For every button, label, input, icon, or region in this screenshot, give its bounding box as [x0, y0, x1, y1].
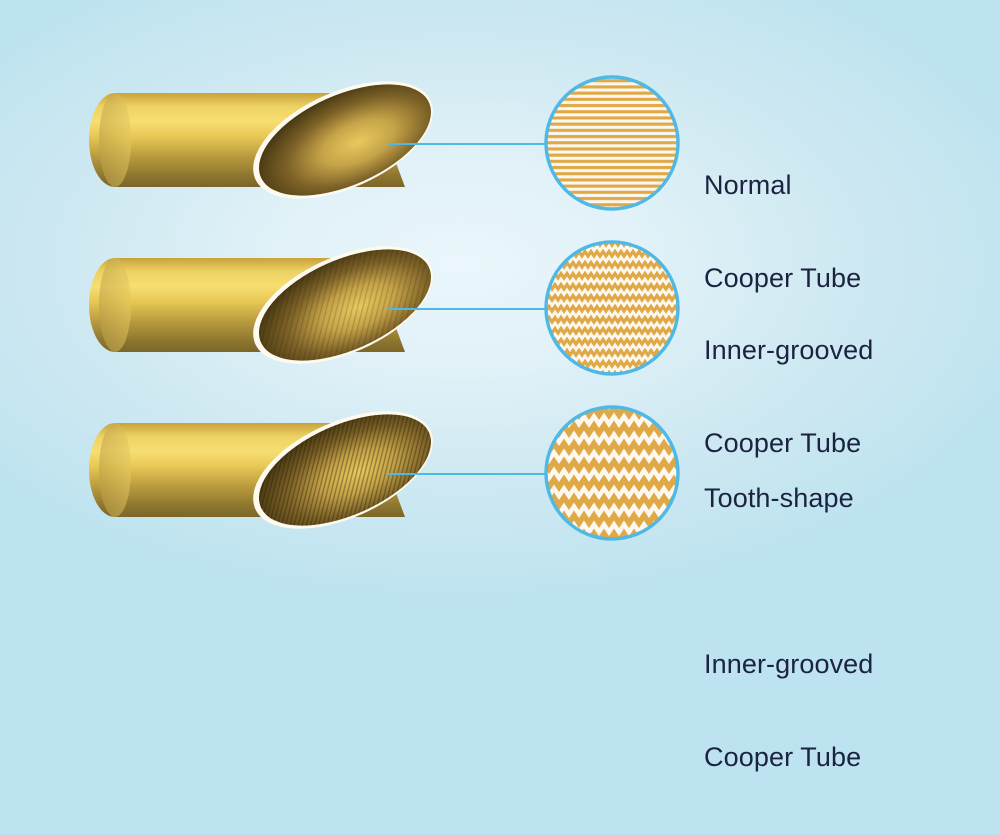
- diagram-row-tooth-shape: Tooth-shape Inner-grooved Cooper Tube: [0, 390, 1000, 570]
- cross-section-inner-grooved: [541, 237, 683, 379]
- diagram-canvas: Normal Cooper Tube: [0, 0, 1000, 600]
- leader-line-inner-grooved: [388, 308, 548, 310]
- copper-tube-normal: [75, 75, 475, 215]
- tube-left-cap: [99, 93, 131, 187]
- label-line: Cooper Tube: [704, 742, 873, 773]
- leader-line-tooth-shape: [388, 473, 548, 475]
- diagram-row-inner-grooved: Inner-grooved Cooper Tube: [0, 225, 1000, 405]
- label-spacer: [704, 576, 873, 587]
- tube-left-cap: [99, 423, 131, 517]
- label-line: Tooth-shape: [704, 483, 873, 514]
- tube-left-cap: [99, 258, 131, 352]
- label-tooth-shape: Tooth-shape Inner-grooved Cooper Tube: [704, 421, 873, 835]
- diagram-row-normal: Normal Cooper Tube: [0, 60, 1000, 240]
- label-line: Normal: [704, 170, 861, 201]
- label-line: Inner-grooved: [704, 335, 873, 366]
- copper-tube-inner-grooved: [75, 240, 475, 380]
- cross-section-normal: [541, 72, 683, 214]
- copper-tube-tooth-shape: [75, 405, 475, 545]
- label-line: Inner-grooved: [704, 649, 873, 680]
- cross-section-tooth-shape: [541, 402, 683, 544]
- leader-line-normal: [388, 143, 548, 145]
